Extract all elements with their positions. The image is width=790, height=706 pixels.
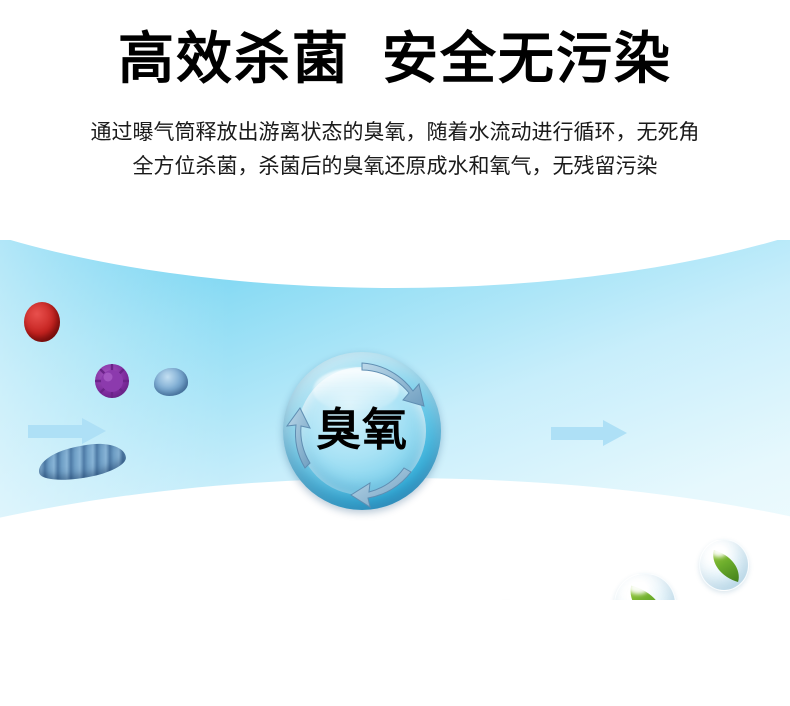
microbe-bacteria-icon xyxy=(154,368,188,396)
leaf-bubble xyxy=(699,539,749,591)
microbe-red-icon xyxy=(24,302,60,342)
flow-arrow-left xyxy=(28,418,106,444)
subtitle-line-2: 全方位杀菌，杀菌后的臭氧还原成水和氧气，无残留污染 xyxy=(0,149,790,183)
page-subtitle: 通过曝气筒释放出游离状态的臭氧，随着水流动进行循环，无死角 全方位杀菌，杀菌后的… xyxy=(0,115,790,183)
ozone-label: 臭氧 xyxy=(283,404,441,456)
bubble-highlight xyxy=(628,581,648,594)
arrow-head xyxy=(603,420,627,446)
arrow-shaft xyxy=(551,427,605,440)
flow-arrow-right xyxy=(551,420,627,446)
subtitle-line-1: 通过曝气筒释放出游离状态的臭氧，随着水流动进行循环，无死角 xyxy=(0,115,790,149)
page-title: 高效杀菌 安全无污染 xyxy=(0,28,790,92)
bubble-highlight xyxy=(711,546,727,557)
arrow-shaft xyxy=(28,425,84,438)
spike-shape xyxy=(95,364,129,398)
promo-banner: 高效杀菌 安全无污染 通过曝气筒释放出游离状态的臭氧，随着水流动进行循环，无死角… xyxy=(0,0,790,706)
arrow-head xyxy=(82,418,106,444)
microbe-purple-small-icon xyxy=(95,364,129,398)
header-section: 高效杀菌 安全无污染 通过曝气筒释放出游离状态的臭氧，随着水流动进行循环，无死角… xyxy=(0,0,790,210)
ozone-process-diagram: 臭氧 细菌 霉菌 氧气 水 O2 H2O xyxy=(0,240,790,600)
ozone-sphere: 臭氧 xyxy=(283,352,441,510)
